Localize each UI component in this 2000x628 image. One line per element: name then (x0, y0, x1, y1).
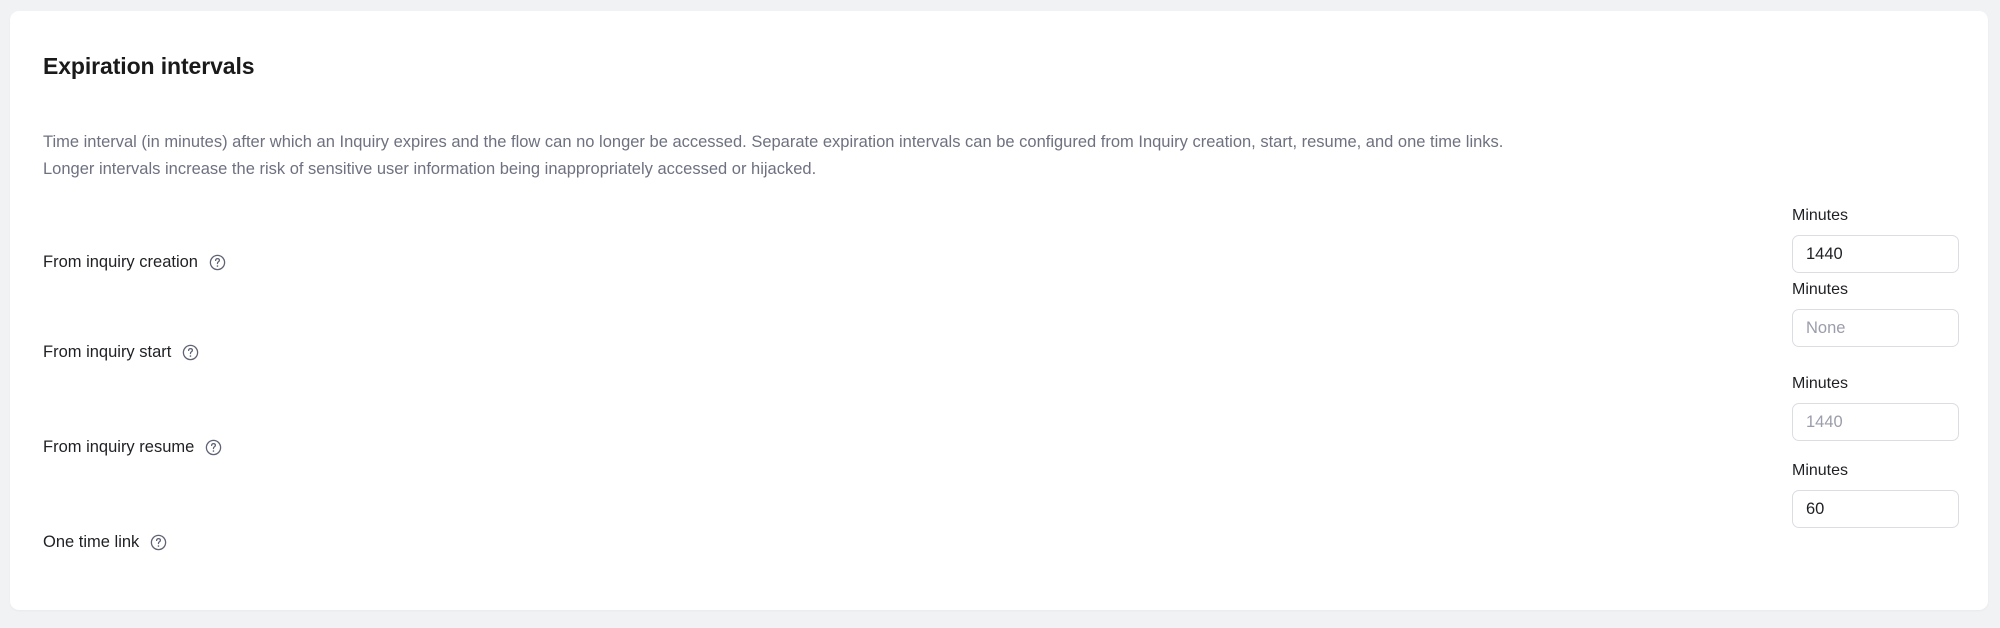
description-line-2: Longer intervals increase the risk of se… (43, 156, 1933, 183)
field-label-text: From inquiry start (43, 341, 171, 363)
control-one-time-link: Minutes (1792, 460, 1959, 528)
input-from-inquiry-resume[interactable] (1792, 403, 1959, 441)
input-from-inquiry-start[interactable] (1792, 309, 1959, 347)
field-label-one-time-link: One time link (43, 531, 167, 553)
page-title: Expiration intervals (43, 51, 254, 81)
unit-label-minutes: Minutes (1792, 373, 1959, 394)
control-from-inquiry-resume: Minutes (1792, 373, 1959, 441)
control-from-inquiry-creation: Minutes (1792, 205, 1959, 273)
input-one-time-link[interactable] (1792, 490, 1959, 528)
help-circle-icon[interactable] (182, 344, 199, 361)
field-label-from-inquiry-creation: From inquiry creation (43, 251, 226, 273)
help-circle-icon[interactable] (205, 439, 222, 456)
input-from-inquiry-creation[interactable] (1792, 235, 1959, 273)
help-circle-icon[interactable] (209, 254, 226, 271)
field-label-from-inquiry-start: From inquiry start (43, 341, 199, 363)
unit-label-minutes: Minutes (1792, 460, 1959, 481)
field-label-text: From inquiry resume (43, 436, 194, 458)
unit-label-minutes: Minutes (1792, 279, 1959, 300)
unit-label-minutes: Minutes (1792, 205, 1959, 226)
expiration-intervals-card: Expiration intervals Time interval (in m… (10, 11, 1988, 610)
field-label-text: From inquiry creation (43, 251, 198, 273)
description-line-1: Time interval (in minutes) after which a… (43, 129, 1933, 156)
field-label-text: One time link (43, 531, 139, 553)
section-description: Time interval (in minutes) after which a… (43, 129, 1933, 183)
field-label-from-inquiry-resume: From inquiry resume (43, 436, 222, 458)
control-from-inquiry-start: Minutes (1792, 279, 1959, 347)
help-circle-icon[interactable] (150, 534, 167, 551)
